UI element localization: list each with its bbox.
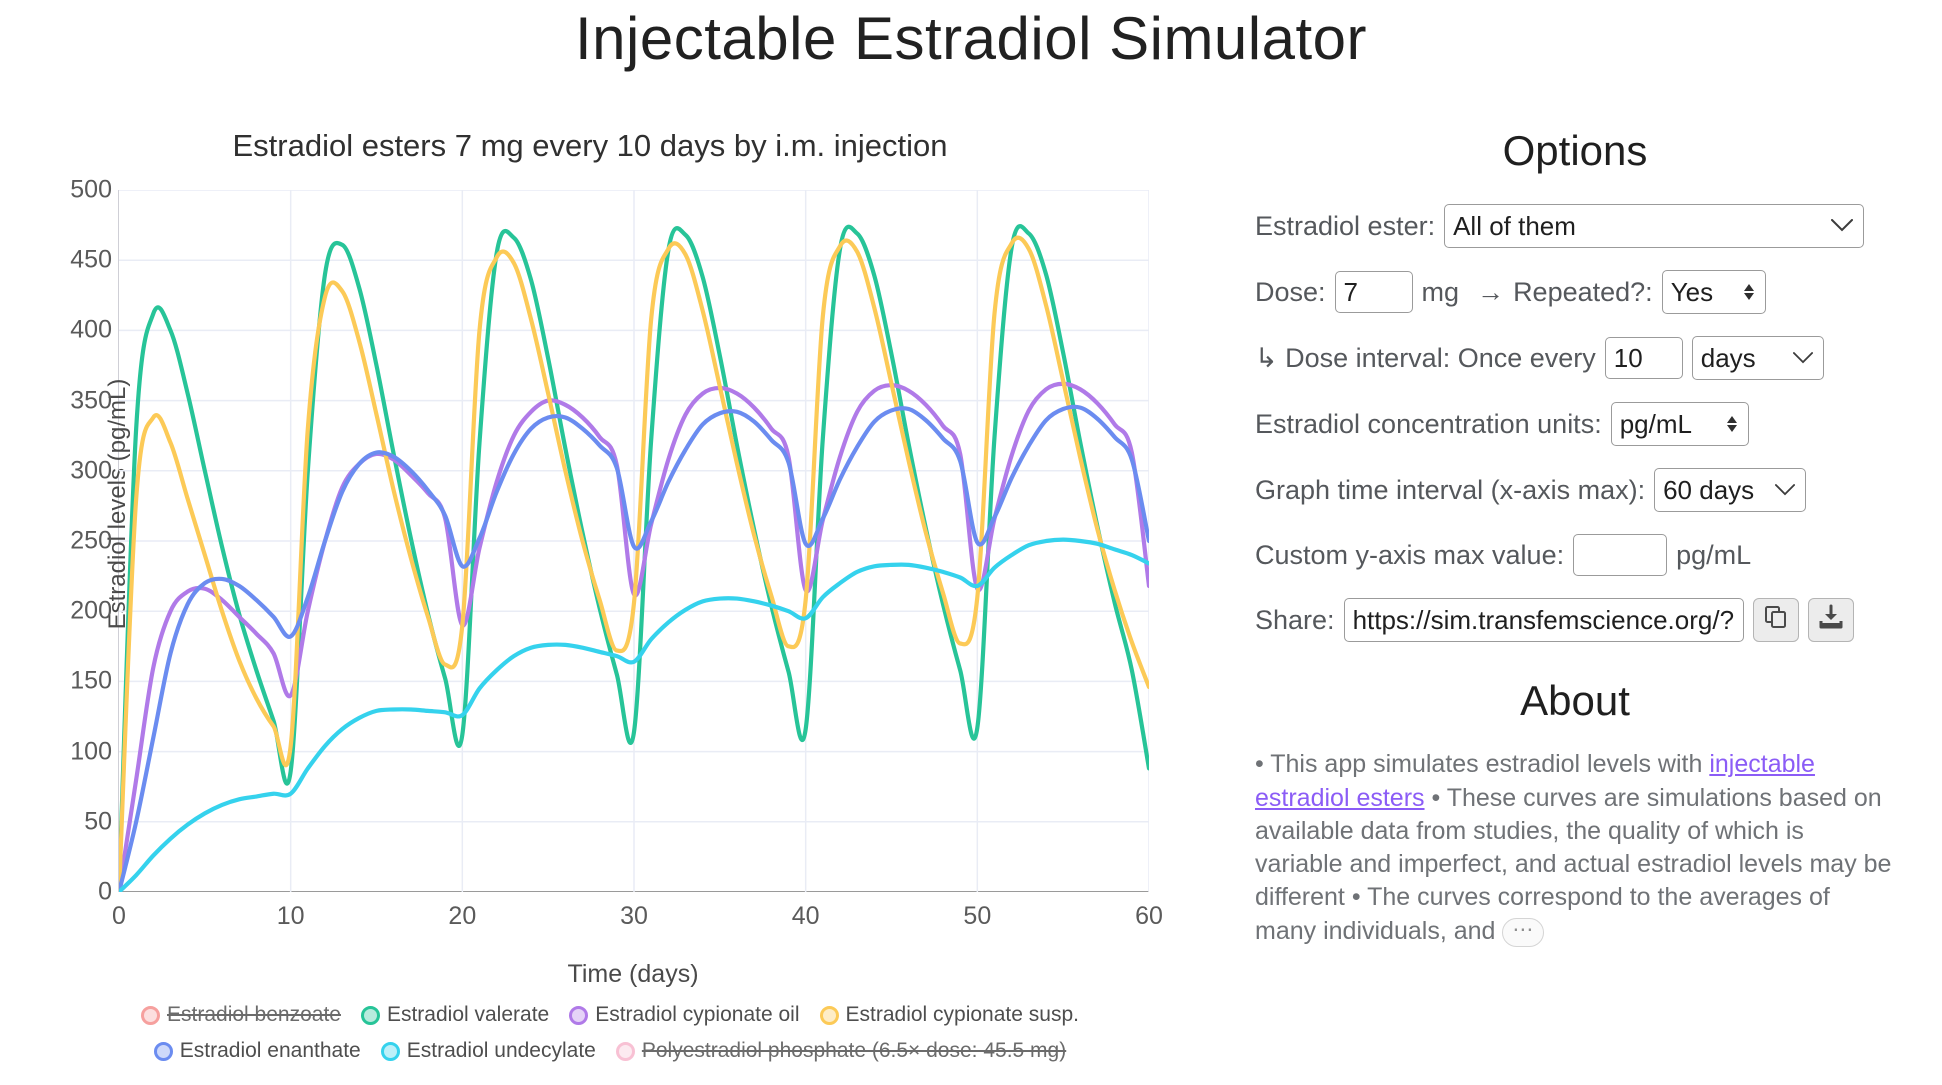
legend-item[interactable]: Estradiol benzoate (141, 1000, 341, 1030)
ester-select[interactable]: All of them (1444, 204, 1864, 248)
chart-container: Estradiol esters 7 mg every 10 days by i… (0, 128, 1180, 1085)
interval-unit-select-wrap: days (1692, 336, 1824, 380)
interval-label: ↳ Dose interval: Once every (1255, 343, 1596, 374)
app-root: Injectable Estradiol Simulator Estradiol… (0, 0, 1942, 1085)
chart-legend: Estradiol benzoateEstradiol valerateEstr… (80, 1000, 1140, 1066)
dose-input[interactable] (1335, 271, 1413, 313)
units-select-wrap: pg/mL (1611, 402, 1749, 446)
option-row-graph-time: Graph time interval (x-axis max): 60 day… (1255, 468, 1895, 512)
copy-icon (1763, 604, 1789, 637)
options-heading: Options (1255, 128, 1895, 174)
page-title: Injectable Estradiol Simulator (0, 6, 1942, 72)
interval-input[interactable] (1605, 337, 1683, 379)
interval-unit-select[interactable]: days (1692, 336, 1824, 380)
legend-item-label: Estradiol cypionate susp. (846, 1000, 1079, 1030)
options-panel: Options Estradiol ester: All of them Dos… (1255, 128, 1895, 948)
legend-item-label: Estradiol benzoate (167, 1000, 341, 1030)
about-heading: About (1255, 678, 1895, 724)
download-button[interactable] (1808, 598, 1854, 642)
x-axis-tick-label: 10 (251, 902, 331, 931)
legend-item[interactable]: Estradiol enanthate (154, 1036, 361, 1066)
legend-item[interactable]: Estradiol cypionate susp. (820, 1000, 1079, 1030)
ymax-unit: pg/mL (1676, 540, 1751, 571)
show-more-button[interactable]: ⋯ (1502, 918, 1544, 947)
about-text-part-1: • This app simulates estradiol levels wi… (1255, 750, 1709, 778)
graph-time-select-wrap: 60 days (1654, 468, 1806, 512)
graph-time-select[interactable]: 60 days (1654, 468, 1806, 512)
legend-swatch-icon (141, 1006, 160, 1025)
legend-item[interactable]: Estradiol valerate (361, 1000, 549, 1030)
y-axis-tick-label: 300 (0, 456, 112, 485)
legend-item-label: Estradiol cypionate oil (595, 1000, 799, 1030)
ester-select-wrap: All of them (1444, 204, 1864, 248)
repeated-select-wrap: Yes (1662, 270, 1766, 314)
legend-swatch-icon (154, 1042, 173, 1061)
option-row-interval: ↳ Dose interval: Once every days (1255, 336, 1895, 380)
y-axis-tick-label: 50 (0, 807, 112, 836)
x-axis-label: Time (days) (118, 960, 1148, 989)
y-axis-tick-label: 500 (0, 176, 112, 205)
legend-item-label: Estradiol undecylate (407, 1036, 596, 1066)
y-axis-tick-label: 400 (0, 316, 112, 345)
legend-swatch-icon (820, 1006, 839, 1025)
x-axis-tick-label: 50 (937, 902, 1017, 931)
ymax-input[interactable] (1573, 534, 1667, 576)
arrow-icon: → (1477, 277, 1504, 308)
option-row-share: Share: (1255, 598, 1895, 642)
legend-item-label: Polyestradiol phosphate (6.5× dose: 45.5… (642, 1036, 1066, 1066)
y-axis-tick-label: 450 (0, 246, 112, 275)
graph-time-label: Graph time interval (x-axis max): (1255, 475, 1645, 506)
option-row-ester: Estradiol ester: All of them (1255, 204, 1895, 248)
legend-item[interactable]: Estradiol cypionate oil (569, 1000, 799, 1030)
ymax-label: Custom y-axis max value: (1255, 540, 1564, 571)
legend-swatch-icon (616, 1042, 635, 1061)
dose-unit: mg (1422, 277, 1460, 308)
share-url-input[interactable] (1344, 598, 1744, 642)
legend-item[interactable]: Polyestradiol phosphate (6.5× dose: 45.5… (616, 1036, 1066, 1066)
option-row-dose: Dose: mg → Repeated?: Yes (1255, 270, 1895, 314)
x-axis-tick-label: 60 (1109, 902, 1189, 931)
legend-swatch-icon (569, 1006, 588, 1025)
about-text: • This app simulates estradiol levels wi… (1255, 748, 1895, 948)
units-label: Estradiol concentration units: (1255, 409, 1602, 440)
option-row-units: Estradiol concentration units: pg/mL (1255, 402, 1895, 446)
dose-label: Dose: (1255, 277, 1326, 308)
chart-title: Estradiol esters 7 mg every 10 days by i… (80, 128, 1100, 164)
y-axis-tick-label: 350 (0, 386, 112, 415)
x-axis-tick-label: 20 (422, 902, 502, 931)
x-axis-tick-label: 0 (79, 902, 159, 931)
repeated-select[interactable]: Yes (1662, 270, 1766, 314)
ester-label: Estradiol ester: (1255, 211, 1435, 242)
y-axis-tick-label: 150 (0, 667, 112, 696)
plot-svg (119, 190, 1149, 892)
y-axis-tick-label: 200 (0, 597, 112, 626)
legend-item-label: Estradiol valerate (387, 1000, 549, 1030)
option-row-ymax: Custom y-axis max value: pg/mL (1255, 534, 1895, 576)
legend-swatch-icon (361, 1006, 380, 1025)
y-axis-tick-label: 250 (0, 527, 112, 556)
download-icon (1818, 604, 1844, 637)
plot-area: Estradiol levels (pg/mL) 050100150200250… (118, 190, 1148, 892)
x-axis-tick-label: 30 (594, 902, 674, 931)
about-section: About • This app simulates estradiol lev… (1255, 678, 1895, 948)
legend-item-label: Estradiol enanthate (180, 1036, 361, 1066)
units-select[interactable]: pg/mL (1611, 402, 1749, 446)
repeated-label: Repeated?: (1513, 277, 1653, 308)
x-axis-tick-label: 40 (766, 902, 846, 931)
legend-swatch-icon (381, 1042, 400, 1061)
share-label: Share: (1255, 605, 1335, 636)
legend-item[interactable]: Estradiol undecylate (381, 1036, 596, 1066)
copy-link-button[interactable] (1753, 598, 1799, 642)
y-axis-tick-label: 100 (0, 737, 112, 766)
